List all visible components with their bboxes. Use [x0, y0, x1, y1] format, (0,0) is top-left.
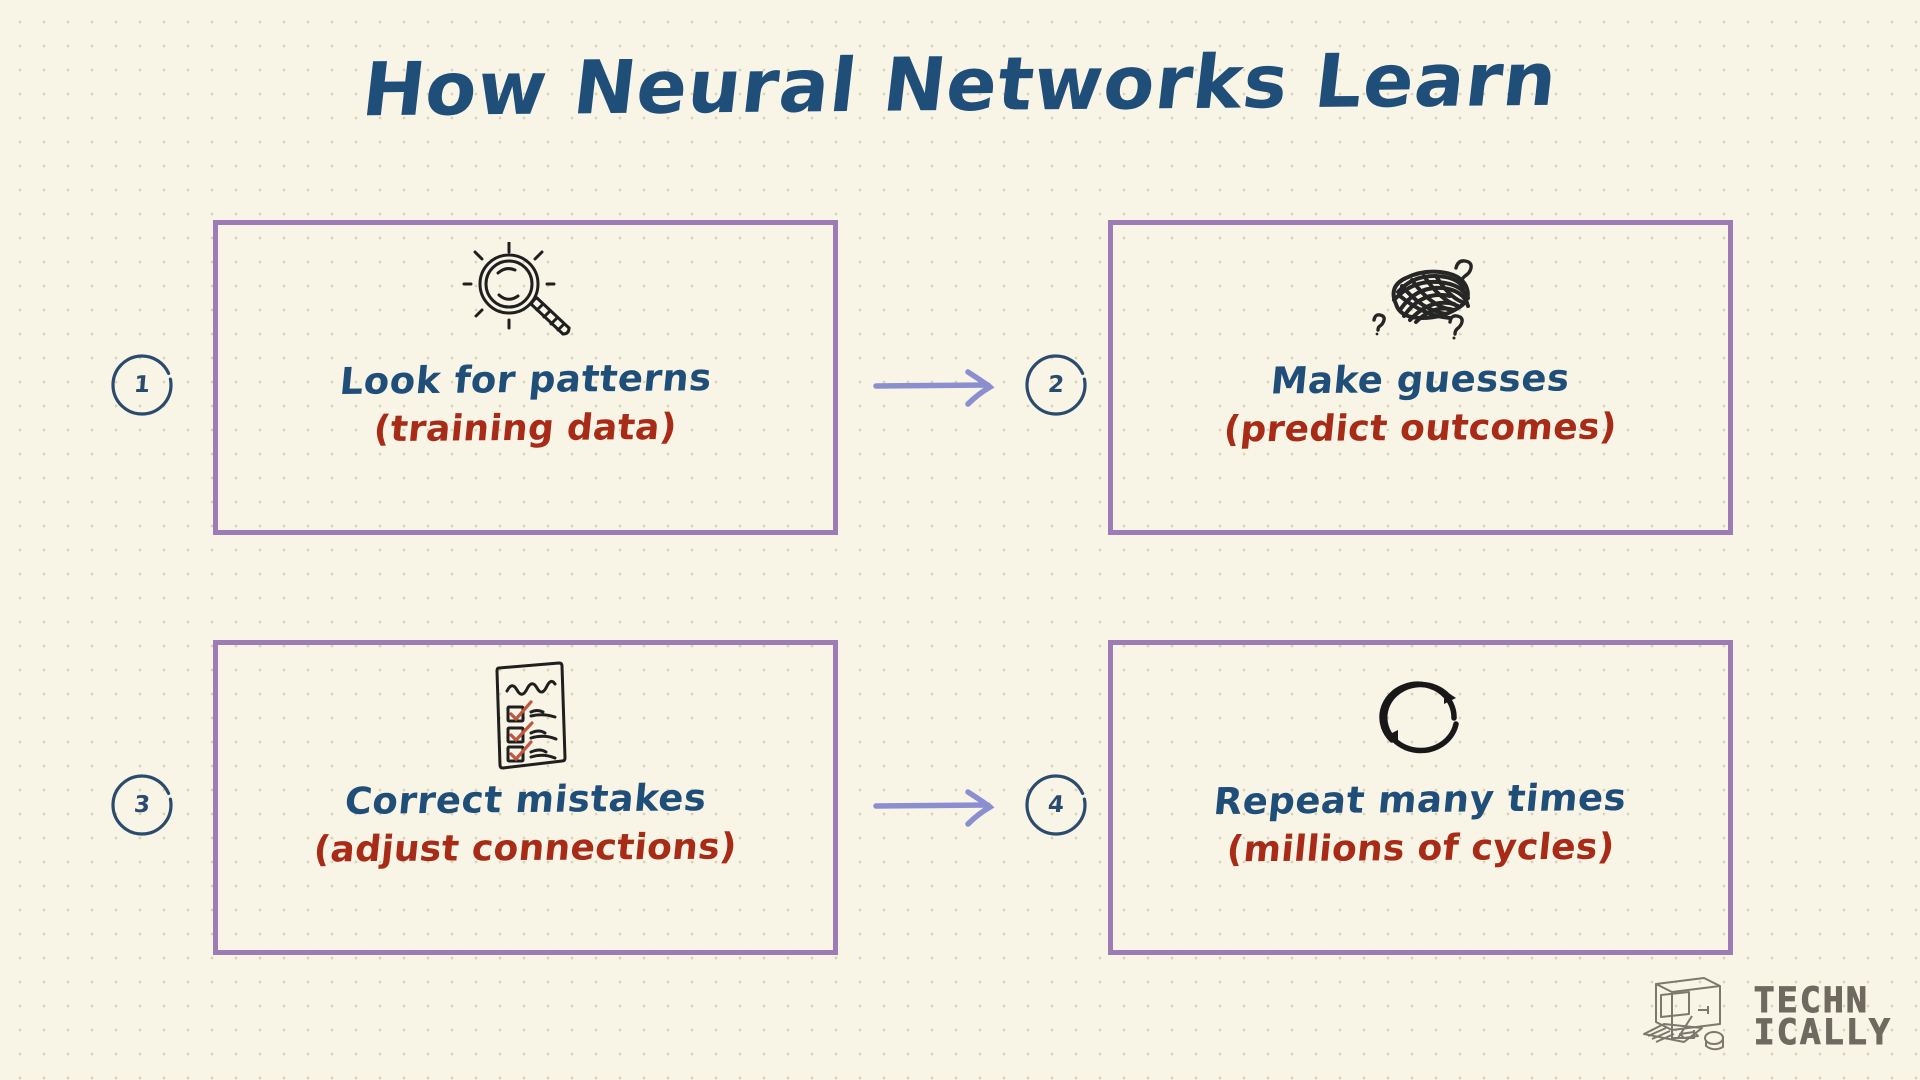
infographic-canvas: How Neural Networks Learn	[0, 0, 1920, 1080]
step-card-3-subtitle: (adjust connections)	[312, 826, 739, 870]
step-number-badge-4: 4	[1022, 771, 1090, 839]
step-card-3[interactable]: Correct mistakes (adjust connections)	[213, 640, 838, 955]
step-card-4[interactable]: Repeat many times (millions of cycles)	[1108, 640, 1733, 955]
step-card-4-title: Repeat many times	[1212, 777, 1629, 824]
step-card-2-subtitle: (predict outcomes)	[1222, 406, 1619, 450]
arrow-step3-to-step4	[872, 780, 1012, 832]
refresh-cycle-icon	[1356, 661, 1486, 773]
page-title: How Neural Networks Learn	[0, 34, 1920, 137]
step-card-1-subtitle: (training data)	[372, 406, 679, 450]
step-number-badge-3: 3	[108, 771, 176, 839]
step-number-label-4: 4	[1047, 792, 1065, 818]
checklist-icon	[451, 661, 601, 773]
step-card-3-title: Correct mistakes	[343, 777, 709, 823]
logo-line-2: ICALLY	[1754, 1017, 1892, 1049]
step-number-label-1: 1	[133, 372, 151, 398]
step-card-2[interactable]: Make guesses (predict outcomes)	[1108, 220, 1733, 535]
step-number-label-2: 2	[1047, 372, 1065, 398]
step-number-badge-1: 1	[108, 351, 176, 419]
retro-computer-icon	[1642, 976, 1740, 1058]
step-number-label-3: 3	[133, 792, 151, 818]
brand-logo[interactable]: TECHN ICALLY	[1642, 976, 1892, 1058]
scribble-question-icon	[1346, 241, 1496, 353]
step-card-1[interactable]: Look for patterns (training data)	[213, 220, 838, 535]
step-card-4-subtitle: (millions of cycles)	[1225, 826, 1617, 870]
step-number-badge-2: 2	[1022, 351, 1090, 419]
arrow-step1-to-step2	[872, 360, 1012, 412]
magnifying-glass-icon	[451, 241, 601, 353]
step-card-1-title: Look for patterns	[337, 357, 713, 403]
step-card-2-title: Make guesses	[1269, 357, 1572, 403]
